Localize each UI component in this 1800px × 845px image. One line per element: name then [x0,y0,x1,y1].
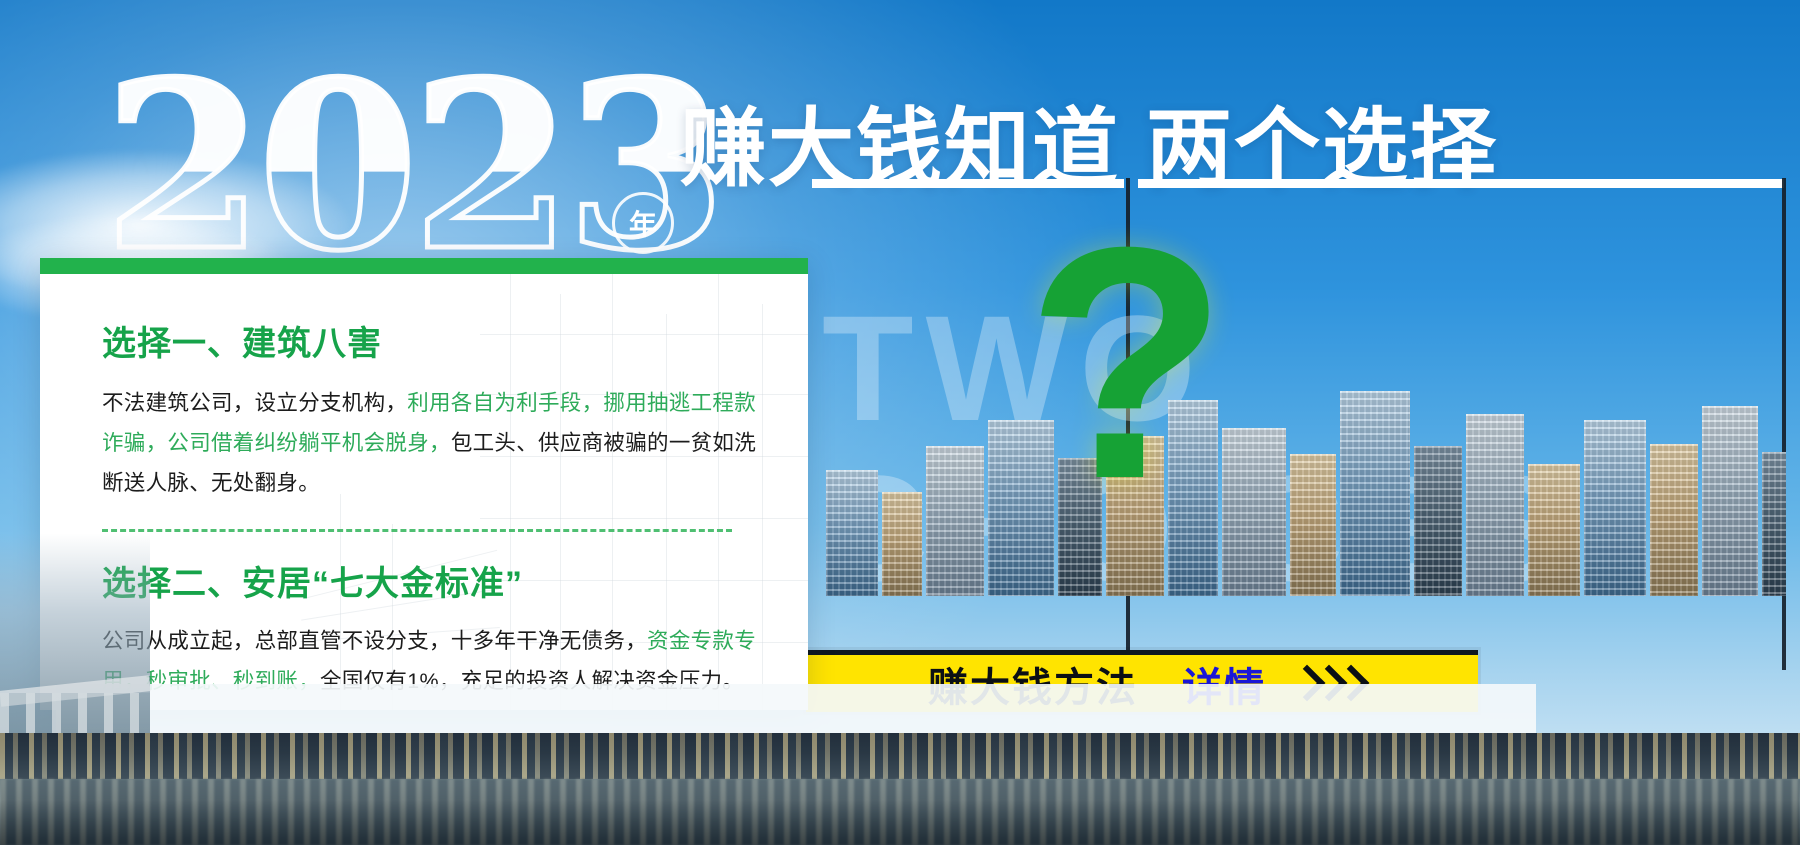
bottom-photo-strip [0,733,1800,845]
city-skyline-photo [812,376,1786,596]
content-card: 选择一、建筑八害 不法建筑公司，设立分支机构，利用各自为利手段，挪用抽逃工程款诈… [40,258,808,710]
s2-line1-green: 资金专款专 [647,629,756,653]
s1-line2-black: 包工头、供应商被骗的一贫如洗 [451,431,756,455]
banner-canvas: 2023 2023 年 赚大钱知道两个选择 TWO CHOICES [0,0,1800,845]
s1-line2-green: 诈骗，公司借着纠纷躺平机会脱身， [102,431,451,455]
s1-line3-black: 断送人脉、无处翻身。 [102,471,320,495]
section-one-title: 选择一、建筑八害 [102,316,762,365]
s1-line1-green: 利用各自为利手段，挪用抽逃工程款 [407,391,756,415]
s2-line1-black: 公司从成立起，总部直管不设分支，十多年干净无债务， [102,629,647,653]
bridge-photo [0,533,150,733]
year-unit-badge: 年 [612,192,674,254]
card-accent-bar [40,258,808,274]
question-mark-icon: ? [1026,198,1228,528]
section-two-title: 选择二、安居“七大金标准” [102,556,762,605]
card-body: 选择一、建筑八害 不法建筑公司，设立分支机构，利用各自为利手段，挪用抽逃工程款诈… [40,274,808,710]
s1-line1-black: 不法建筑公司，设立分支机构， [102,391,407,415]
right-visual-panel: TWO CHOICES ? [812,186,1786,674]
bottom-white-plate [56,684,1536,736]
section-divider [102,529,732,532]
section-one-text: 不法建筑公司，设立分支机构，利用各自为利手段，挪用抽逃工程款诈骗，公司借着纠纷躺… [102,383,762,503]
